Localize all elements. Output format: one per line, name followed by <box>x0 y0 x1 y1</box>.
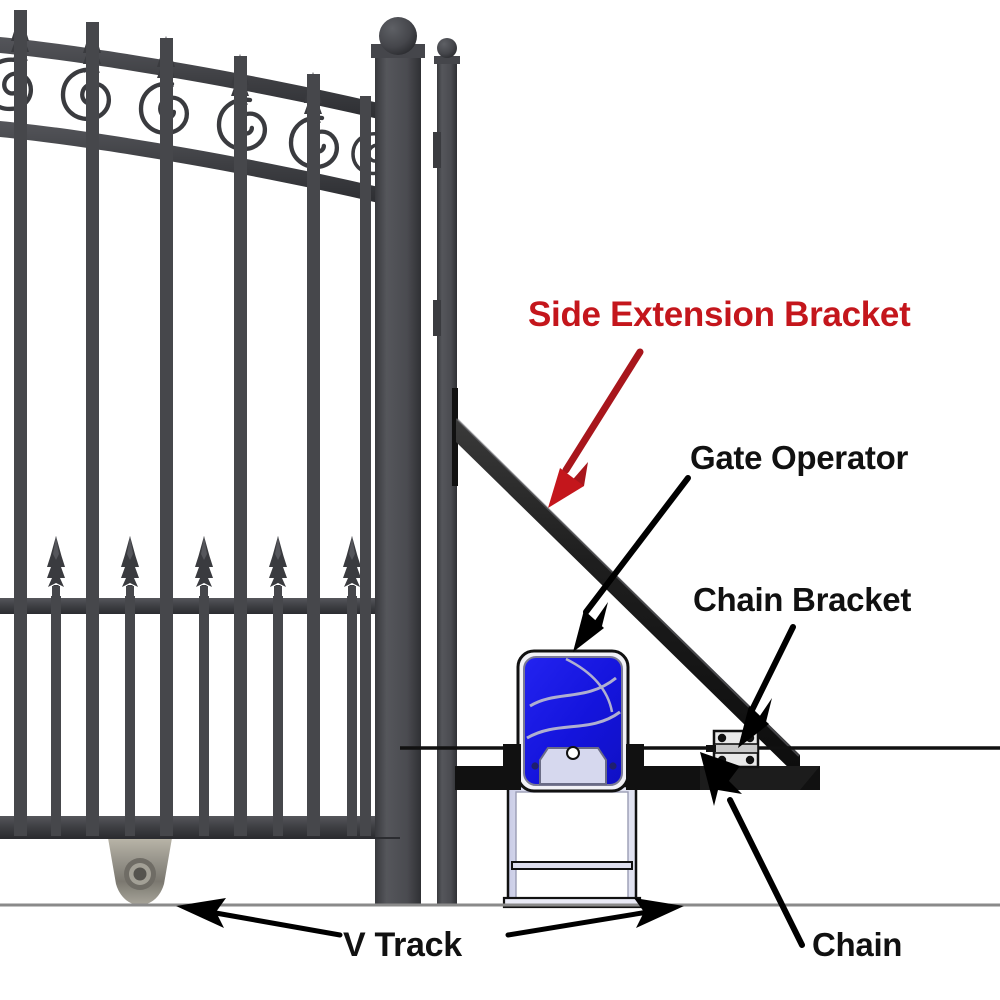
label-side-extension-bracket: Side Extension Bracket <box>528 297 910 332</box>
operator-right-ear <box>626 744 644 790</box>
operator-left-ear <box>503 744 521 790</box>
diagram-canvas: Side Extension Bracket Gate Operator Cha… <box>0 0 1000 1000</box>
gate-scroll-band <box>0 36 400 208</box>
label-v-track: V Track <box>343 928 462 962</box>
label-chain: Chain <box>812 928 902 961</box>
gate-panel <box>0 10 400 905</box>
label-chain-bracket: Chain Bracket <box>693 583 911 616</box>
secondary-post-ball-finial <box>437 38 457 58</box>
operator-housing <box>518 651 628 791</box>
scroll-ornament <box>63 70 109 119</box>
gate-operator-unit <box>503 651 644 907</box>
gate-post-assembly <box>371 17 460 906</box>
gate-installation-illustration <box>0 0 1000 1000</box>
gate-post <box>375 56 421 906</box>
operator-stand <box>504 786 640 907</box>
v-groove-roller-wheel <box>108 838 172 905</box>
label-gate-operator: Gate Operator <box>690 441 908 474</box>
chain-assembly <box>400 748 1000 790</box>
side-extension-bracket-leader <box>548 352 640 508</box>
gate-post-ball-finial <box>379 17 417 55</box>
